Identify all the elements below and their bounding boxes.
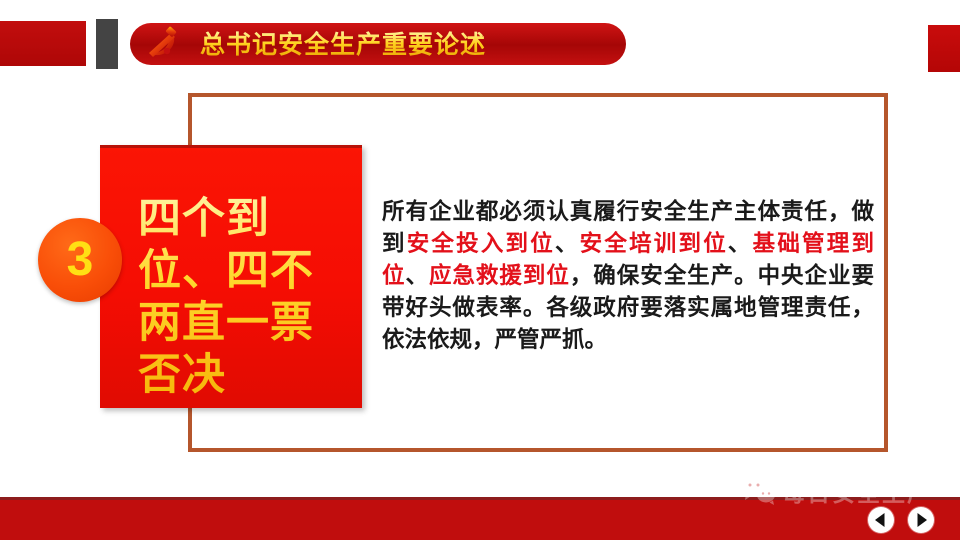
header-top-right-red-block	[928, 25, 960, 72]
next-slide-button[interactable]	[908, 507, 934, 533]
arrow-right-icon	[908, 507, 934, 533]
arrow-left-icon	[868, 507, 894, 533]
page-title: 总书记安全生产重要论述	[200, 30, 486, 60]
slide-canvas: 总书记安全生产重要论述 四个到位、四不两直一票否决 3 所有企业都必须认真履行安…	[0, 0, 960, 540]
header-left-gray-bar	[96, 19, 118, 69]
body-text-run: 、	[728, 231, 753, 256]
body-highlight-run: 安全培训到位	[580, 231, 728, 256]
body-paragraph: 所有企业都必须认真履行安全生产主体责任，做到安全投入到位、安全培训到位、基础管理…	[382, 196, 874, 356]
body-highlight-run: 安全投入到位	[407, 231, 555, 256]
party-emblem-hammer-sickle-icon	[140, 22, 184, 66]
headline-text: 四个到位、四不两直一票否决	[138, 193, 350, 401]
headline-box: 四个到位、四不两直一票否决	[100, 145, 362, 408]
prev-slide-button[interactable]	[868, 507, 894, 533]
section-number-label: 3	[38, 218, 122, 302]
footer-band	[0, 497, 960, 540]
header-left-red-bar	[0, 21, 86, 66]
body-text-run: 、	[555, 231, 580, 256]
section-number-badge: 3	[38, 218, 122, 302]
body-text-run: 、	[405, 263, 428, 288]
body-highlight-run: 应急救援到位	[429, 263, 570, 288]
